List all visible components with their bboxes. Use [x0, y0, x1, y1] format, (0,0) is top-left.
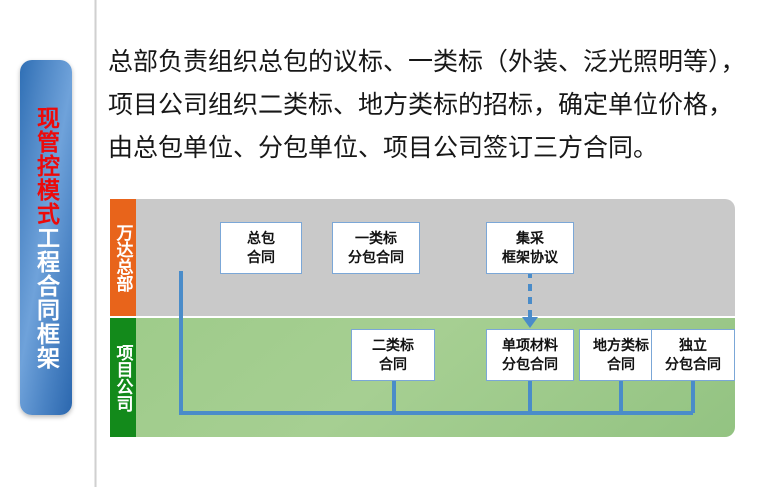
node-independent-sub-contract-line2: 分包合同	[665, 355, 721, 374]
body-paragraph: 总部负责组织总包的议标、一类标（外装、泛光照明等），项目公司组织二类标、地方类标…	[108, 41, 748, 170]
arrow-down-material	[522, 317, 538, 328]
connector-riser-independent	[691, 379, 695, 413]
swimlane-headquarters	[110, 199, 735, 316]
node-procurement-framework-line2: 框架协议	[502, 248, 558, 267]
node-class2-contract[interactable]: 二类标 合同	[351, 329, 435, 381]
section-tab-label-highlight: 现管控模式	[34, 106, 60, 226]
node-local-class-contract-line1: 地方类标	[593, 336, 649, 355]
node-independent-sub-contract-line1: 独立	[679, 336, 707, 355]
node-material-sub-contract-line2: 分包合同	[502, 355, 558, 374]
node-procurement-framework-line1: 集采	[516, 229, 544, 248]
node-material-sub-contract-line1: 单项材料	[502, 336, 558, 355]
node-class2-contract-line1: 二类标	[372, 336, 414, 355]
node-material-sub-contract[interactable]: 单项材料 分包合同	[486, 329, 574, 381]
section-tab-label-rest: 工程合同框架	[34, 226, 60, 370]
section-tab[interactable]: 现管控模式工程合同框架	[20, 60, 72, 415]
node-procurement-framework[interactable]: 集采 框架协议	[486, 222, 574, 274]
node-general-contract-line2: 合同	[247, 248, 275, 267]
node-local-class-contract-line2: 合同	[607, 355, 635, 374]
node-class1-sub-contract-line1: 一类标	[355, 229, 397, 248]
node-general-contract[interactable]: 总包 合同	[220, 222, 302, 274]
node-class1-sub-contract[interactable]: 一类标 分包合同	[332, 222, 420, 274]
swimlane-label-headquarters-text: 万达总部	[115, 224, 132, 292]
content-divider	[94, 0, 97, 487]
connector-bottom-bus	[179, 411, 693, 415]
swimlane-label-headquarters: 万达总部	[110, 199, 136, 316]
connector-dashed-procurement-to-material	[528, 271, 532, 319]
node-class2-contract-line2: 合同	[379, 355, 407, 374]
connector-general-contract-down	[179, 271, 183, 415]
swimlane-label-project-company: 项目公司	[110, 318, 136, 437]
connector-riser-material	[528, 379, 532, 413]
node-general-contract-line1: 总包	[247, 229, 275, 248]
section-tab-label: 现管控模式工程合同框架	[35, 106, 58, 370]
node-class1-sub-contract-line2: 分包合同	[348, 248, 404, 267]
swimlane-label-project-company-text: 项目公司	[115, 344, 132, 412]
connector-riser-local	[619, 379, 623, 413]
node-independent-sub-contract[interactable]: 独立 分包合同	[651, 329, 735, 381]
connector-riser-class2	[392, 379, 396, 413]
contract-framework-diagram: 万达总部 项目公司 总包 合同 一类标 分包合同 集采 框架协议 二类标 合同 …	[110, 199, 735, 437]
